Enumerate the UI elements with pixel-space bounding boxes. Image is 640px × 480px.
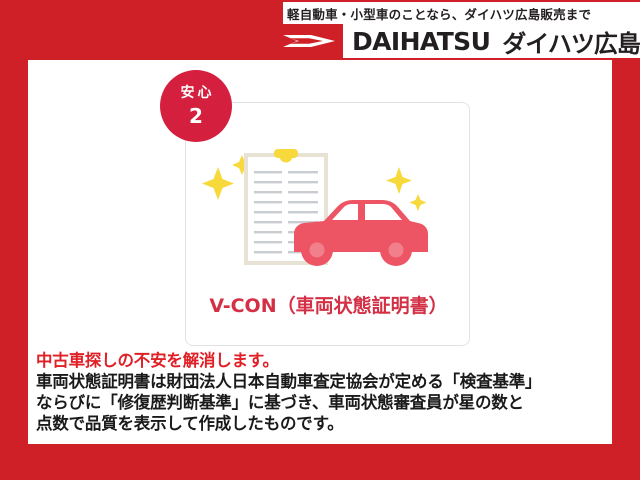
header-bar: 軽自動車・小型車のことなら、ダイハツ広島販売まで DAIHATSU ダイハツ広島…: [0, 0, 640, 60]
dealer-name-text: ダイハツ広島販売: [502, 24, 640, 59]
vcon-illustration: [186, 121, 471, 271]
daihatsu-d-emblem-icon: [275, 24, 343, 58]
illustration-card: V-CON（車両状態証明書）: [185, 102, 470, 346]
tagline-text: 軽自動車・小型車のことなら、ダイハツ広島販売まで: [283, 4, 591, 23]
vcon-caption: V-CON（車両状態証明書）: [186, 291, 471, 318]
description-headline: 中古車探しの不安を解消します。: [36, 350, 616, 371]
description-text-block: 中古車探しの不安を解消します。 車両状態証明書は財団法人日本自動車査定協会が定め…: [36, 350, 616, 434]
brand-logo-row: DAIHATSU ダイハツ広島販売: [275, 24, 640, 58]
description-line: 点数で品質を表示して作成したものです。: [36, 413, 616, 434]
badge-number: 2: [189, 106, 203, 126]
tagline-container: 軽自動車・小型車のことなら、ダイハツ広島販売まで: [283, 2, 640, 24]
anshin-badge: 安心 2: [160, 70, 232, 142]
advertisement-banner: 軽自動車・小型車のことなら、ダイハツ広島販売まで DAIHATSU ダイハツ広島…: [0, 0, 640, 480]
brand-wordmark: DAIHATSU: [352, 27, 490, 56]
badge-label: 安心: [178, 86, 215, 100]
description-line: ならびに「修復歴判断基準」に基づき、車両状態審査員が星の数と: [36, 392, 616, 413]
description-line: 車両状態証明書は財団法人日本自動車査定協会が定める「検査基準」: [36, 371, 616, 392]
